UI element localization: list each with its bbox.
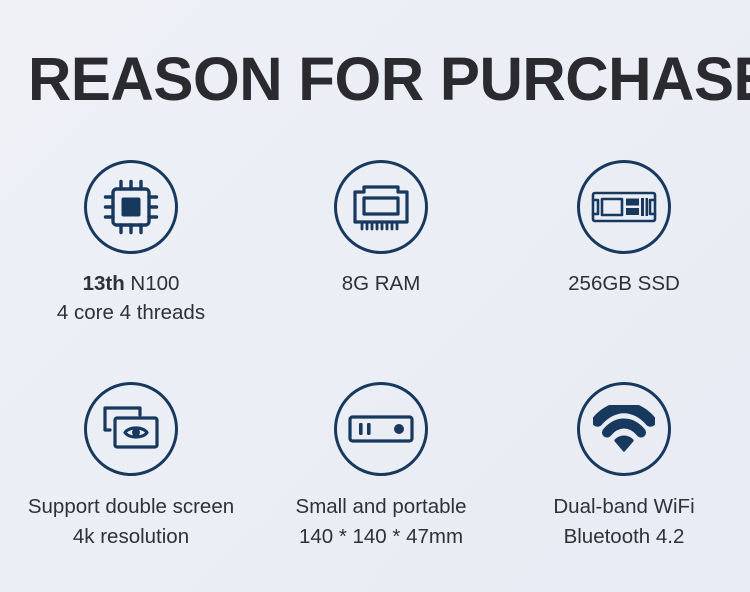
feature-caption-cpu: 13th N100 4 core 4 threads bbox=[57, 269, 205, 327]
feature-line-1-rest: Dual-band WiFi bbox=[553, 495, 694, 518]
feature-grid: 13th N100 4 core 4 threads 8G RAM bbox=[0, 160, 750, 552]
feature-line-1-rest: N100 bbox=[125, 272, 180, 295]
feature-item-cpu: 13th N100 4 core 4 threads bbox=[0, 160, 264, 378]
feature-caption-wifi: Dual-band WiFi Bluetooth 4.2 bbox=[553, 492, 694, 552]
page-title: REASON FOR PURCHASE bbox=[28, 48, 750, 110]
feature-item-ram: 8G RAM bbox=[265, 160, 497, 378]
feature-line-1-rest: Support double screen bbox=[28, 495, 234, 518]
promo-banner: REASON FOR PURCHASE bbox=[0, 0, 750, 592]
feature-item-dual-screen: Support double screen 4k resolution bbox=[0, 378, 264, 552]
dual-screen-eye-icon bbox=[84, 382, 178, 476]
feature-caption-ssd: 256GB SSD bbox=[568, 269, 680, 298]
feature-line-1: Support double screen bbox=[28, 492, 234, 522]
feature-line-1: Small and portable bbox=[296, 492, 467, 522]
feature-item-ssd: 256GB SSD bbox=[498, 160, 750, 378]
feature-line-2: 4 core 4 threads bbox=[57, 298, 205, 327]
feature-item-wifi: Dual-band WiFi Bluetooth 4.2 bbox=[498, 378, 750, 552]
feature-line-1: 13th N100 bbox=[57, 269, 205, 298]
feature-line-2: Bluetooth 4.2 bbox=[553, 522, 694, 552]
mini-pc-box-icon bbox=[334, 382, 428, 476]
wifi-signal-icon bbox=[577, 382, 671, 476]
feature-line-2: 4k resolution bbox=[28, 522, 234, 552]
feature-line-1-rest: 256GB SSD bbox=[568, 272, 680, 295]
cpu-chip-icon bbox=[84, 160, 178, 254]
feature-caption-dual-screen: Support double screen 4k resolution bbox=[28, 492, 234, 552]
feature-line-1-rest: Small and portable bbox=[296, 495, 467, 518]
feature-item-size: Small and portable 140 * 140 * 47mm bbox=[265, 378, 497, 552]
feature-caption-size: Small and portable 140 * 140 * 47mm bbox=[296, 492, 467, 552]
feature-caption-ram: 8G RAM bbox=[342, 269, 421, 298]
feature-line-2: 140 * 140 * 47mm bbox=[296, 522, 467, 552]
feature-line-1-bold: 13th bbox=[83, 272, 125, 295]
ssd-m2-icon bbox=[577, 160, 671, 254]
feature-line-1: Dual-band WiFi bbox=[553, 492, 694, 522]
feature-line-1-rest: 8G RAM bbox=[342, 272, 421, 295]
feature-line-1: 8G RAM bbox=[342, 269, 421, 298]
feature-line-1: 256GB SSD bbox=[568, 269, 680, 298]
ram-module-icon bbox=[334, 160, 428, 254]
